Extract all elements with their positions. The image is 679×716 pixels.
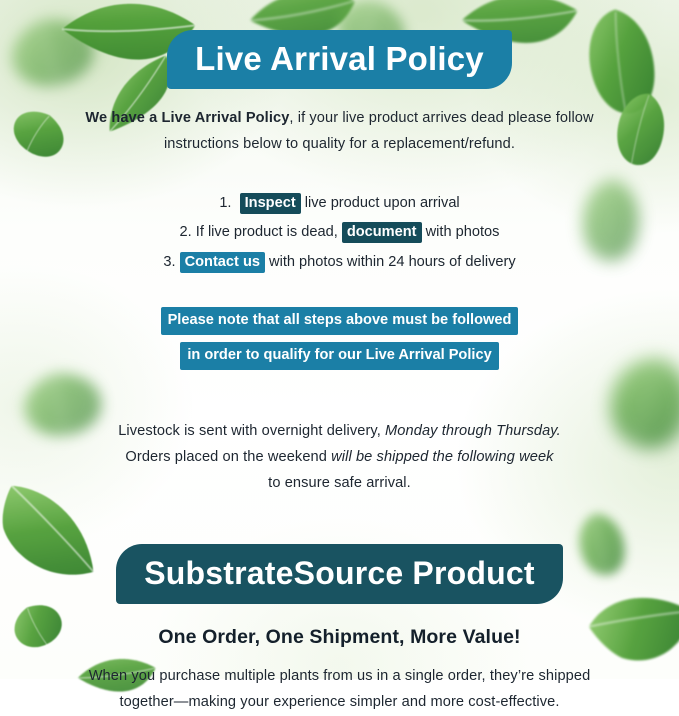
step-3-highlight: Contact us bbox=[180, 252, 265, 273]
intro-paragraph: We have a Live Arrival Policy, if your l… bbox=[0, 106, 679, 158]
step-1-highlight: Inspect bbox=[240, 193, 301, 214]
shipping-line-3: to ensure safe arrival. bbox=[0, 471, 679, 497]
intro-line-1-rest: , if your live product arrives dead plea… bbox=[289, 110, 593, 126]
intro-line-2: instructions below to quality for a repl… bbox=[0, 132, 679, 158]
shipping-line-1: Livestock is sent with overnight deliver… bbox=[0, 419, 679, 445]
substratesource-banner-row: SubstrateSource Product bbox=[0, 544, 679, 604]
value-paragraph-line-1: When you purchase multiple plants from u… bbox=[0, 664, 679, 690]
step-2-number: 2. bbox=[180, 224, 192, 240]
step-2-highlight: document bbox=[342, 222, 422, 243]
step-item-1: 1. Inspect live product upon arrival bbox=[0, 189, 679, 218]
step-item-2: 2. If live product is dead, document wit… bbox=[0, 218, 679, 247]
policy-note-line-1: Please note that all steps above must be… bbox=[161, 307, 519, 335]
shipping-line-2-plain: Orders placed on the weekend bbox=[125, 449, 331, 465]
substratesource-section: SubstrateSource Product One Order, One S… bbox=[0, 544, 679, 716]
intro-bold-lead: We have a Live Arrival Policy bbox=[85, 110, 289, 126]
live-arrival-banner-row: Live Arrival Policy bbox=[0, 30, 679, 89]
policy-note-row-2: in order to qualify for our Live Arrival… bbox=[0, 335, 679, 370]
shipping-line-2: Orders placed on the weekend will be shi… bbox=[0, 445, 679, 471]
policy-note-line-2: in order to qualify for our Live Arrival… bbox=[180, 342, 498, 370]
step-3-number: 3. bbox=[163, 254, 175, 270]
shipping-line-2-italic: will be shipped the following week bbox=[331, 449, 553, 465]
value-paragraph: When you purchase multiple plants from u… bbox=[0, 664, 679, 716]
steps-list: 1. Inspect live product upon arrival 2. … bbox=[0, 189, 679, 277]
shipping-schedule-paragraph: Livestock is sent with overnight deliver… bbox=[0, 419, 679, 497]
step-1-number: 1. bbox=[219, 195, 231, 211]
live-arrival-policy-banner: Live Arrival Policy bbox=[167, 30, 512, 89]
policy-note-block: Please note that all steps above must be… bbox=[0, 307, 679, 369]
step-2-pre: If live product is dead, bbox=[196, 224, 342, 240]
step-1-post: live product upon arrival bbox=[301, 195, 460, 211]
shipping-line-1-plain: Livestock is sent with overnight deliver… bbox=[118, 423, 385, 439]
intro-line-1: We have a Live Arrival Policy, if your l… bbox=[0, 106, 679, 132]
shipping-line-1-italic: Monday through Thursday. bbox=[385, 423, 561, 439]
step-item-3: 3. Contact us with photos within 24 hour… bbox=[0, 248, 679, 277]
value-paragraph-line-2: together—making your experience simpler … bbox=[0, 690, 679, 716]
substratesource-product-banner: SubstrateSource Product bbox=[116, 544, 562, 604]
page-content: Live Arrival Policy We have a Live Arriv… bbox=[0, 0, 679, 679]
step-2-post: with photos bbox=[422, 224, 500, 240]
value-headline: One Order, One Shipment, More Value! bbox=[0, 626, 679, 649]
policy-note-row-1: Please note that all steps above must be… bbox=[0, 307, 679, 335]
step-3-post: with photos within 24 hours of delivery bbox=[265, 254, 516, 270]
